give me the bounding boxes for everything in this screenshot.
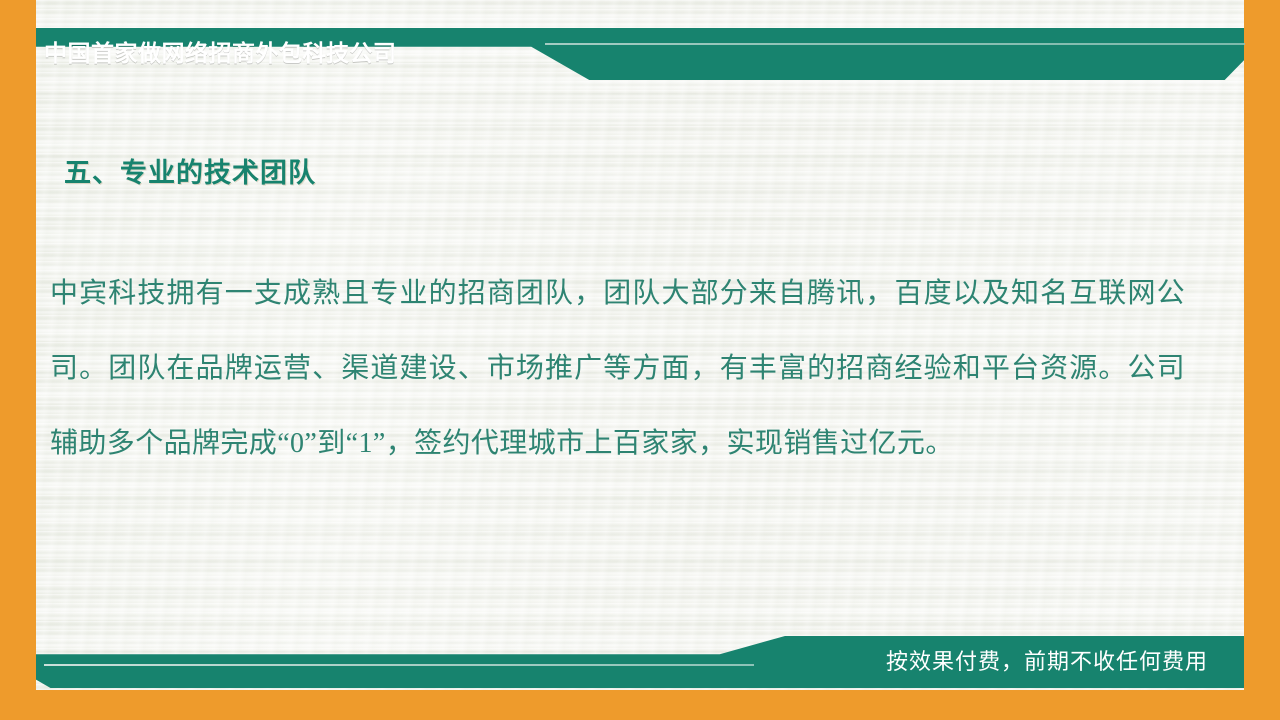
presentation-slide: 中国首家做网络招商外包科技公司 五、专业的技术团队 中宾科技拥有一支成熟且专业的…: [0, 0, 1280, 720]
body-paragraph: 中宾科技拥有一支成熟且专业的招商团队，团队大部分来自腾讯，百度以及知名互联网公司…: [50, 256, 1185, 481]
footer-tagline: 按效果付费，前期不收任何费用: [886, 645, 1208, 679]
page-title: 五、专业的技术团队: [64, 151, 316, 190]
header-divider-line: [545, 43, 1245, 45]
footer-divider-line: [44, 664, 754, 666]
header-banner-text: 中国首家做网络招商外包科技公司: [44, 34, 397, 72]
